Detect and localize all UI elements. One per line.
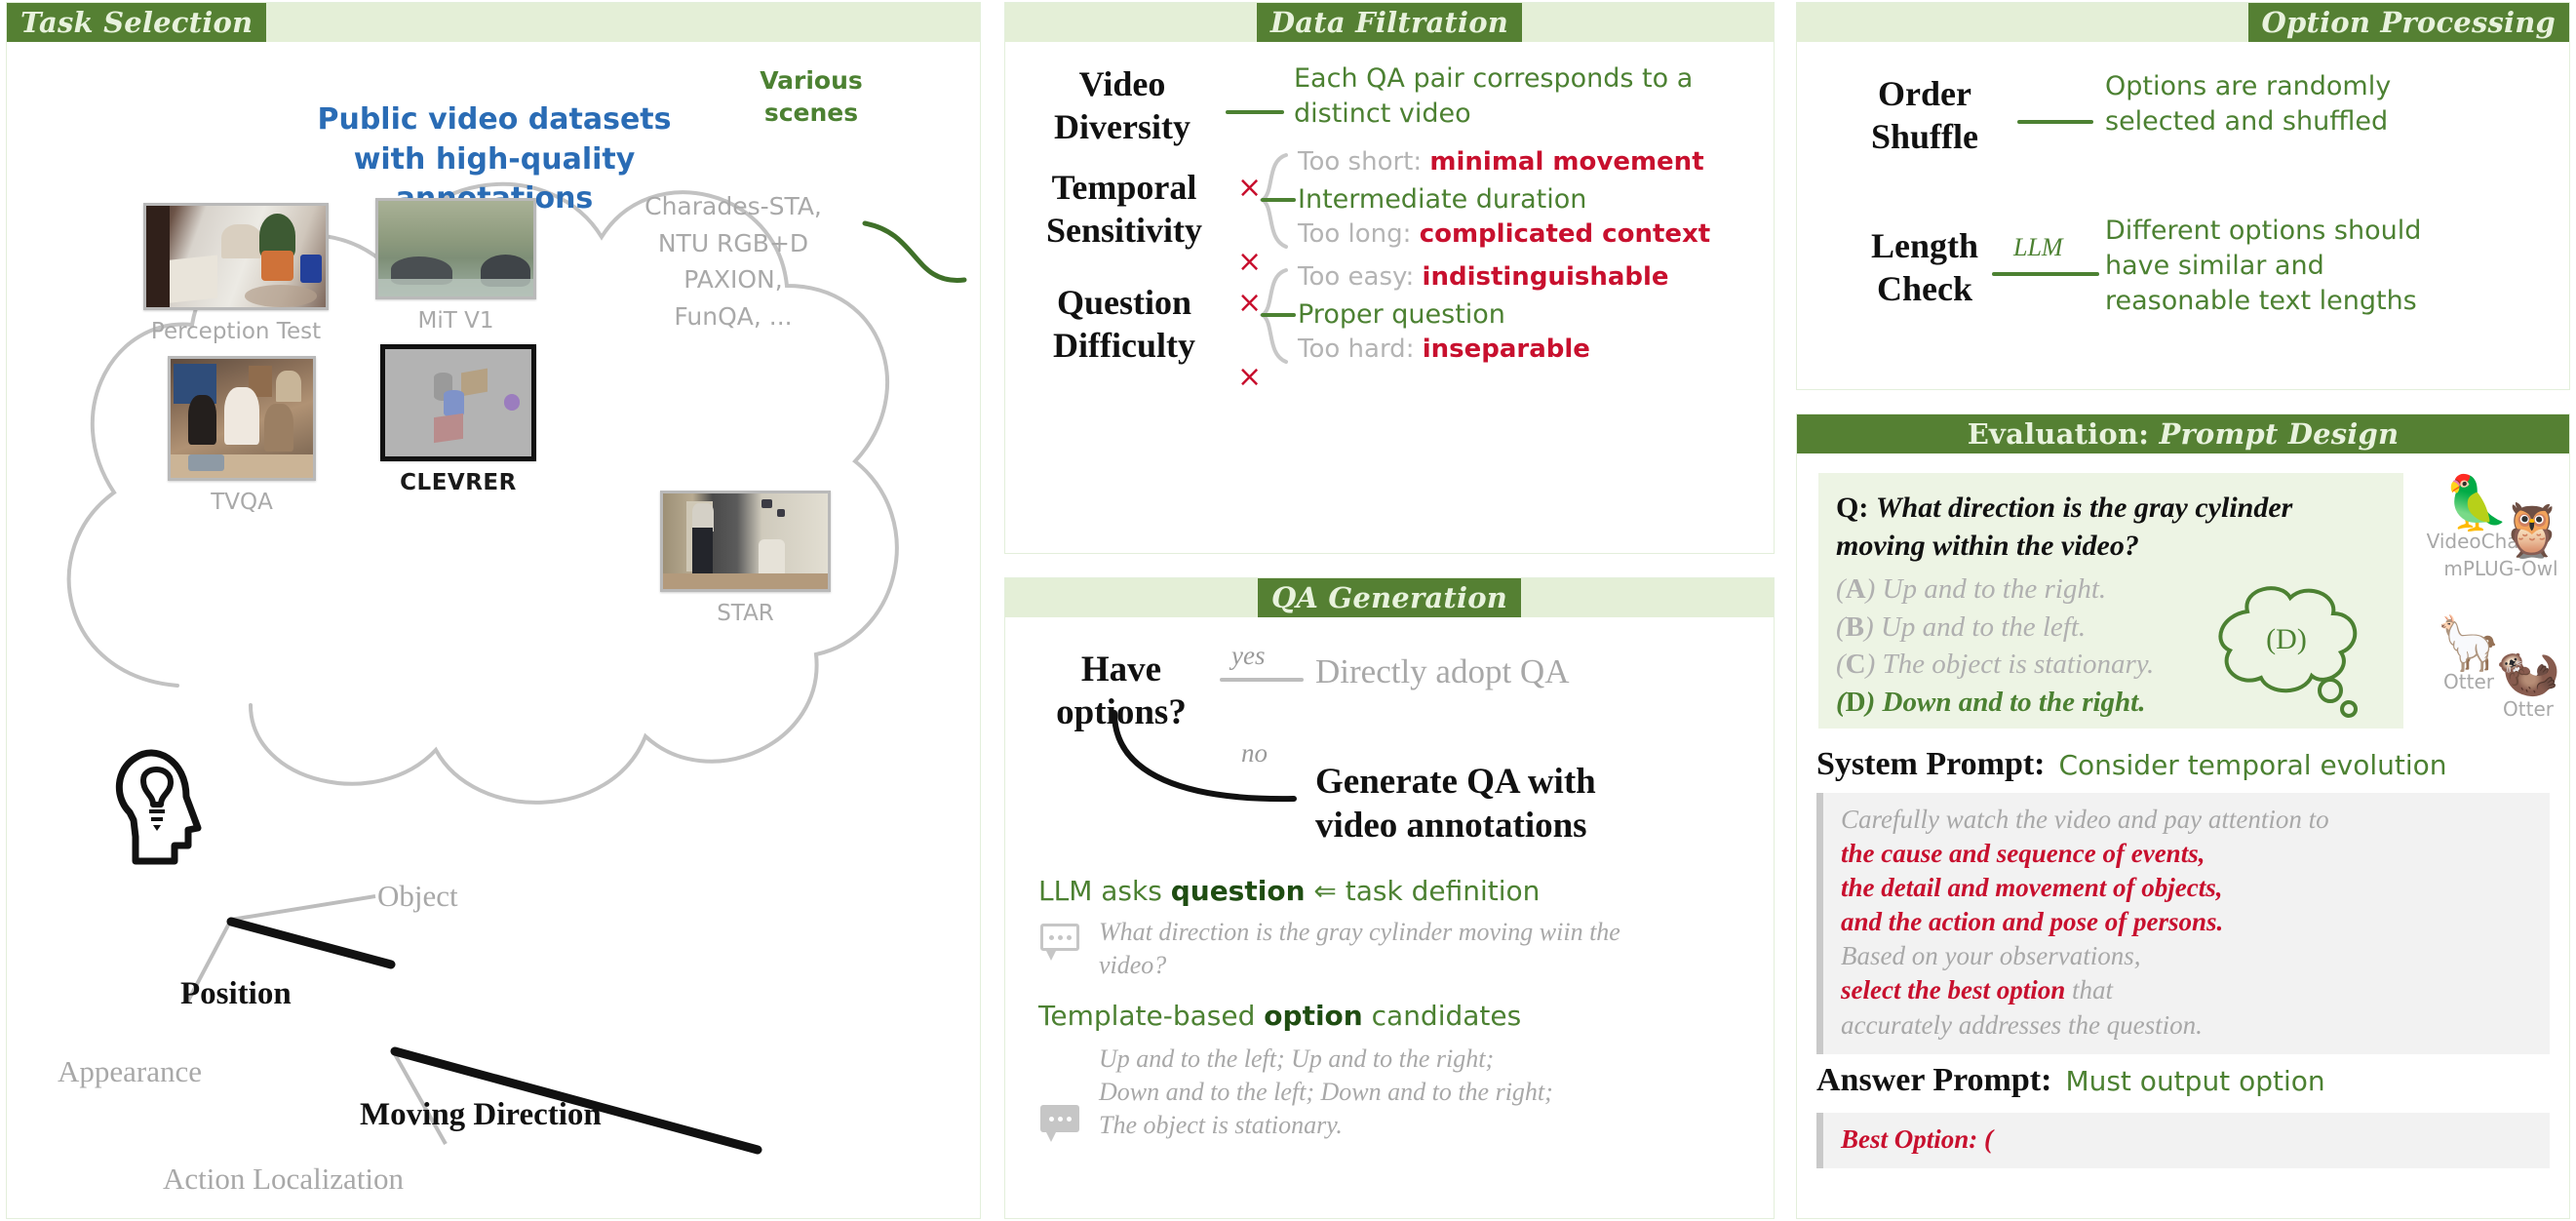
qa-step2-example: Up and to the left; Up and to the right;… [1099, 1043, 1742, 1141]
qa-branch-no-target: Generate QA with video annotations [1315, 760, 1596, 847]
panel-evaluation-body: Q: What direction is the gray cylinder m… [1797, 453, 2569, 1218]
system-prompt-line: Based on your observations, [1841, 939, 2534, 973]
panel-evaluation-title-sep: : [2138, 417, 2159, 451]
filter-item-prefix: Too long: [1298, 219, 1420, 249]
system-prompt-box: Carefully watch the video and pay attent… [1816, 793, 2550, 1054]
thumbnail-perception-test: Perception Test [143, 203, 329, 344]
question-prefix: Q [1836, 492, 1858, 524]
system-prompt-note: Consider temporal evolution [2059, 749, 2447, 781]
qa-step2-heading-a: Template-based [1038, 1000, 1264, 1032]
filter-brace-temporal [1257, 149, 1296, 255]
panel-task-title: Task Selection [7, 3, 266, 42]
filter-item-too-short: Too short: minimal movement [1298, 147, 1704, 177]
system-prompt-line-hl: select the best option [1841, 975, 2065, 1004]
panel-evaluation-header: Evaluation: Prompt Design [1797, 414, 2569, 453]
system-prompt-label: System Prompt: [1816, 746, 2046, 782]
qa-branch-no-label: no [1241, 738, 1268, 768]
filter-brace-difficulty [1257, 264, 1296, 370]
thumbnail-clevrer: CLEVRER [380, 344, 536, 495]
answer-prompt-note: Must output option [2065, 1065, 2324, 1097]
panel-evaluation: Evaluation: Prompt Design Q: What direct… [1796, 414, 2570, 1219]
filter-accept-line-temporal [1261, 198, 1296, 202]
speech-bubble-icon [1040, 1105, 1079, 1136]
filter-item-too-easy: Too easy: indistinguishable [1298, 262, 1669, 292]
panel-option-header: Option Processing [1797, 3, 2569, 42]
svg-text:(D): (D) [2266, 623, 2307, 655]
qa-branch-yes-target: Directly adopt QA [1315, 652, 1569, 691]
option-letter: A [1846, 573, 1866, 605]
qa-step1-heading: LLM asks question ⇐ task definition [1038, 875, 1540, 907]
thumbnail-image-tvqa [168, 356, 316, 481]
qa-step1-heading-a: LLM asks [1038, 875, 1171, 907]
system-prompt-line: and the action and pose of persons. [1841, 905, 2534, 939]
panel-task-header: Task Selection [7, 3, 980, 42]
panel-option-body: Order Shuffle Options are randomly selec… [1797, 42, 2569, 389]
panel-option-processing: Option Processing Order Shuffle Options … [1796, 2, 2570, 390]
option-text: Up and to the right. [1883, 573, 2107, 605]
panel-qa-title: QA Generation [1258, 578, 1521, 617]
filter-item-text: minimal movement [1429, 147, 1703, 177]
panel-data-filtration: Data Filtration Video Diversity Each QA … [1004, 2, 1775, 554]
option-letter: D [1846, 687, 1866, 718]
taxonomy-label-appearance: Appearance [58, 1054, 202, 1089]
option-text: The object is stationary. [1883, 649, 2155, 680]
thumbnail-image-mit-v1 [375, 198, 536, 299]
filter-item-text: complicated context [1420, 219, 1711, 249]
system-prompt-line: Carefully watch the video and pay attent… [1841, 803, 2534, 837]
panel-qa-body: Have options? yes Directly adopt QA no G… [1005, 617, 1774, 1218]
qa-step1-example: What direction is the gray cylinder movi… [1099, 916, 1664, 982]
filter-label-question-difficulty: Question Difficulty [1019, 282, 1229, 368]
taxonomy-label-action-localization: Action Localization [163, 1162, 404, 1197]
model-label: mPLUG-Owl [2433, 557, 2569, 580]
panel-option-title: Option Processing [2248, 3, 2569, 42]
filter-item-intermediate: Intermediate duration [1298, 182, 1586, 217]
filter-item-prefix: Too easy: [1298, 262, 1423, 292]
thumbnail-image-perception-test [143, 203, 329, 310]
filter-item-prefix: Too hard: [1298, 335, 1423, 364]
dataset-list: Charades-STA, NTU RGB+D PAXION, FunQA, .… [631, 188, 836, 335]
qa-step2-heading-b: option [1264, 1000, 1362, 1032]
thumbnail-caption: TVQA [168, 490, 316, 515]
option-text: Up and to the left. [1881, 611, 2086, 643]
panel-task-body: Public video datasets with high-quality … [7, 42, 980, 1218]
option-label-length-check: Length Check [1842, 225, 2008, 311]
qa-step1-heading-b: question [1171, 875, 1306, 907]
model-label: Otter [2485, 697, 2571, 721]
panel-evaluation-title: Evaluation: Prompt Design [1797, 414, 2569, 453]
thumbnail-caption: MiT V1 [375, 308, 536, 334]
filter-connector-video-diversity [1226, 110, 1284, 114]
qa-branch-no-curve [1099, 707, 1323, 814]
filter-item-video-diversity: Each QA pair corresponds to a distinct v… [1294, 61, 1723, 132]
thumbnail-mit-v1: MiT V1 [375, 198, 536, 334]
filter-item-text: inseparable [1423, 335, 1590, 364]
question-colon: : [1858, 492, 1876, 524]
model-mplug-owl: 🦉 mPLUG-Owl [2433, 504, 2569, 580]
taxonomy-label-object: Object [377, 879, 458, 914]
panel-evaluation-title-italic: Prompt Design [2159, 417, 2399, 451]
panel-qa-header: QA Generation [1005, 578, 1774, 617]
panel-qa-generation: QA Generation Have options? yes Directly… [1004, 577, 1775, 1219]
various-scenes-label: Various scenes [748, 65, 875, 129]
answer-prompt-box: Best Option: ( [1816, 1113, 2550, 1168]
option-text-order-shuffle: Options are randomly selected and shuffl… [2105, 69, 2515, 139]
thought-bubble-icon: (D) [2201, 578, 2376, 725]
filter-item-proper-question: Proper question [1298, 297, 1505, 333]
option-letter: C [1846, 649, 1866, 680]
option-connector-length-check [1992, 272, 2099, 276]
question-text: What direction is the gray cylinder movi… [1836, 492, 2292, 562]
qa-step2-heading: Template-based option candidates [1038, 1000, 1521, 1032]
qa-branch-yes-label: yes [1231, 641, 1265, 671]
answer-prompt-label: Answer Prompt: [1816, 1062, 2051, 1098]
thumbnail-image-clevrer [380, 344, 536, 461]
figure-root: Task Selection Public video datasets wit… [0, 0, 2576, 1221]
system-prompt-line: the detail and movement of objects, [1841, 871, 2534, 905]
filter-item-too-long: Too long: complicated context [1298, 219, 1710, 249]
option-text: Down and to the right. [1883, 687, 2146, 718]
thumbnail-image-star [660, 491, 831, 592]
taxonomy-label-position: Position [180, 976, 292, 1012]
filter-item-too-hard: Too hard: inseparable [1298, 335, 1590, 364]
owl-icon: 🦉 [2495, 504, 2569, 557]
option-text-length-check: Different options should have similar an… [2105, 214, 2524, 319]
panel-task-selection: Task Selection Public video datasets wit… [6, 2, 981, 1219]
panel-filtration-title: Data Filtration [1257, 3, 1522, 42]
speech-bubble-icon [1040, 924, 1079, 955]
thumbnail-tvqa: TVQA [168, 356, 316, 515]
filter-label-video-diversity: Video Diversity [1025, 63, 1220, 149]
thumbnail-caption: STAR [660, 601, 831, 626]
system-prompt-line: select the best option that [1841, 973, 2534, 1007]
thumbnail-caption: CLEVRER [380, 470, 536, 495]
system-prompt-line: the cause and sequence of events, [1841, 837, 2534, 871]
option-label-order-shuffle: Order Shuffle [1842, 73, 2008, 159]
taxonomy-connectors [7, 725, 982, 1218]
panel-filtration-body: Video Diversity Each QA pair corresponds… [1005, 42, 1774, 553]
filter-item-text: indistinguishable [1423, 262, 1669, 292]
thumbnail-caption: Perception Test [143, 319, 329, 344]
filter-accept-line-difficulty [1261, 313, 1296, 317]
otter-icon: 🦦 [2485, 645, 2571, 697]
question-line: Q: What direction is the gray cylinder m… [1836, 489, 2386, 565]
system-prompt-line: accurately addresses the question. [1841, 1008, 2534, 1043]
panel-evaluation-title-bold: Evaluation [1968, 417, 2138, 451]
qa-step1-heading-c: ⇐ task definition [1306, 875, 1541, 907]
system-prompt-line-suffix: that [2065, 975, 2113, 1004]
option-letter: B [1846, 611, 1864, 643]
taxonomy-label-moving-direction: Moving Direction [360, 1097, 602, 1133]
filter-label-temporal-sensitivity: Temporal Sensitivity [1019, 167, 1229, 253]
model-otter: 🦦 Otter [2444, 645, 2571, 721]
option-connector-order-shuffle [2017, 120, 2093, 124]
qa-branch-yes-line [1220, 678, 1304, 682]
system-prompt-row: System Prompt: Consider temporal evoluti… [1816, 746, 2447, 783]
thumbnail-star: STAR [660, 491, 831, 626]
answer-prompt-text: Best Option: ( [1841, 1123, 2534, 1157]
panel-filtration-header: Data Filtration [1005, 3, 1774, 42]
qa-step2-heading-c: candidates [1363, 1000, 1521, 1032]
option-connector-label-llm: LLM [2013, 233, 2063, 262]
answer-prompt-row: Answer Prompt: Must output option [1816, 1062, 2325, 1099]
filter-item-prefix: Too short: [1298, 147, 1429, 177]
